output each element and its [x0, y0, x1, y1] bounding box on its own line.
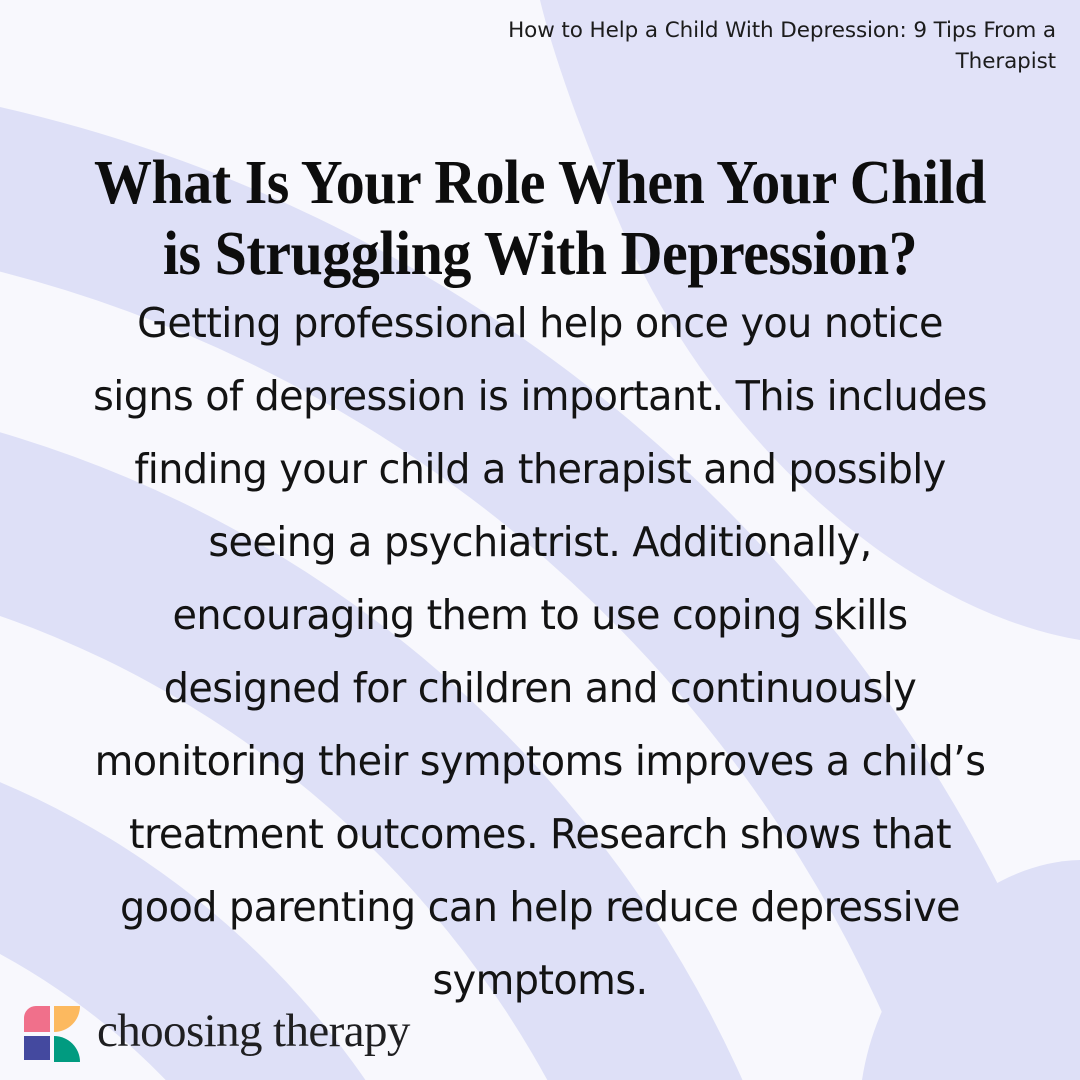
logo-quadrant-top-right-orange: [54, 1006, 80, 1032]
brand-wordmark: choosing therapy: [97, 1008, 410, 1059]
card-content: How to Help a Child With Depression: 9 T…: [0, 0, 1080, 1080]
body-paragraph: Getting professional help once you notic…: [84, 287, 996, 1017]
page-title: What Is Your Role When Your Child is Str…: [91, 148, 989, 292]
logo-quadrant-bottom-right-teal: [54, 1036, 80, 1062]
social-share-card: How to Help a Child With Depression: 9 T…: [0, 0, 1080, 1080]
logo-quadrant-bottom-left-indigo: [24, 1036, 50, 1060]
article-title-eyebrow: How to Help a Child With Depression: 9 T…: [496, 16, 1056, 77]
logo-quadrant-top-left-pink: [24, 1006, 50, 1032]
choosing-therapy-logo-mark-icon: [24, 1004, 80, 1062]
brand-logo-lockup[interactable]: choosing therapy: [24, 1004, 410, 1062]
